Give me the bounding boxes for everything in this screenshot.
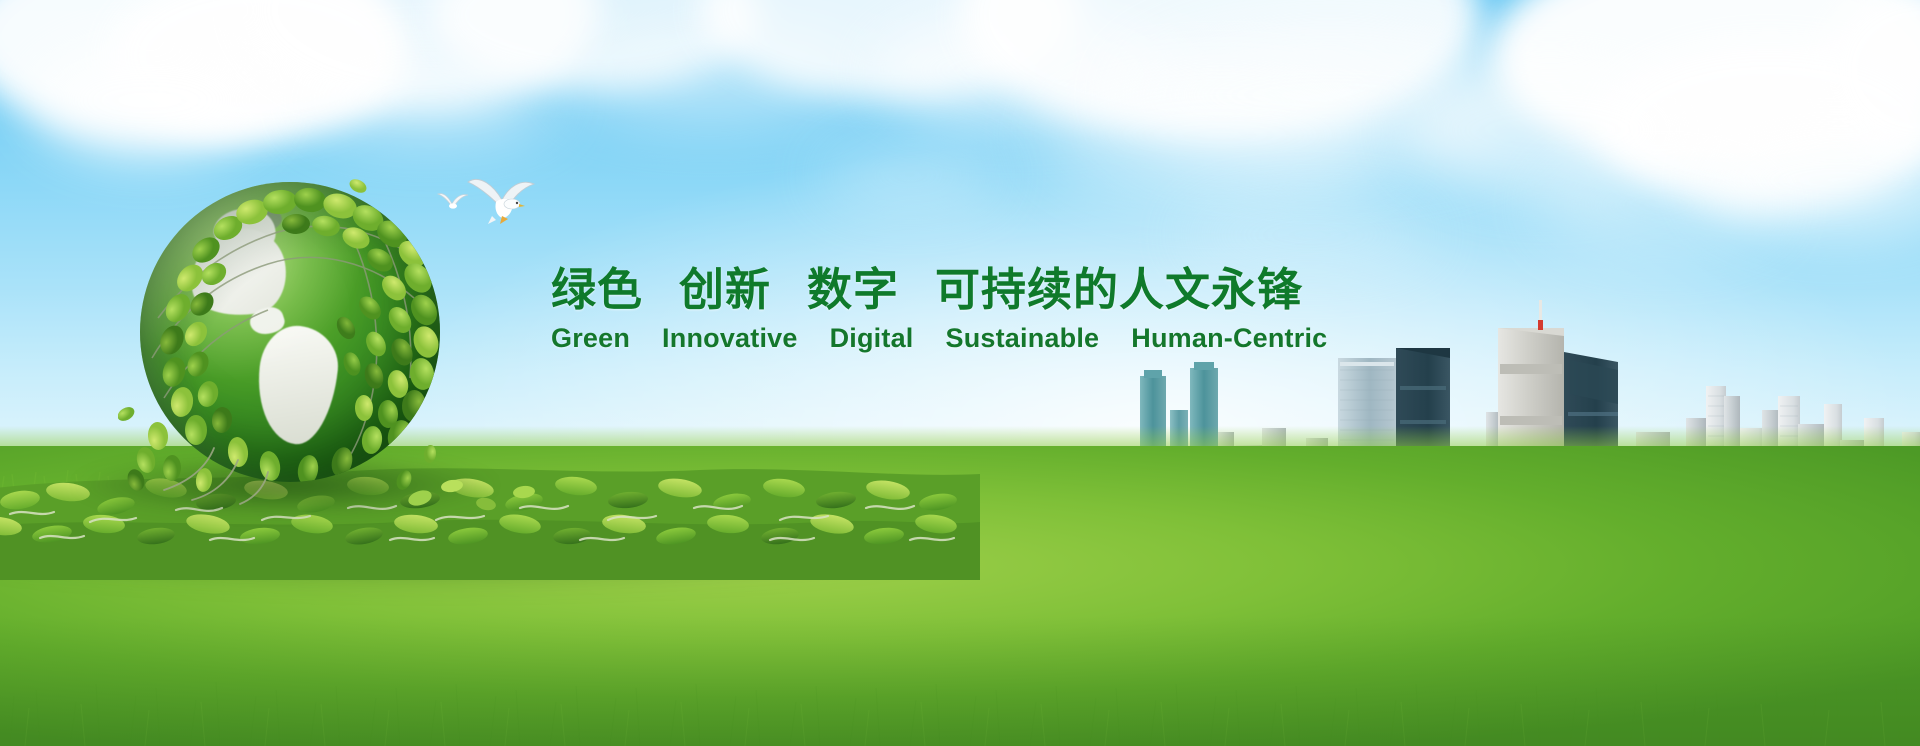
headline-word-2: 创新 <box>679 264 771 315</box>
subtitle-word-4: Sustainable <box>946 323 1100 353</box>
eco-banner: 绿色创新数字可持续的人文永锋 GreenInnovativeDigitalSus… <box>0 0 1920 746</box>
subtitle-english: GreenInnovativeDigitalSustainableHuman-C… <box>551 322 1291 354</box>
subtitle-word-2: Innovative <box>662 323 798 353</box>
grass-foreground-shade <box>0 616 1920 746</box>
headline-chinese: 绿色创新数字可持续的人文永锋 <box>551 264 1291 316</box>
eco-globe <box>118 168 458 508</box>
subtitle-word-1: Green <box>551 323 630 353</box>
subtitle-word-3: Digital <box>830 323 914 353</box>
drifting-leaves <box>400 470 680 560</box>
banner-text-block: 绿色创新数字可持续的人文永锋 GreenInnovativeDigitalSus… <box>551 264 1291 354</box>
headline-word-4: 可持续的人文永锋 <box>935 264 1303 315</box>
headline-word-1: 绿色 <box>551 264 643 315</box>
headline-word-3: 数字 <box>807 264 899 315</box>
subtitle-word-5: Human-Centric <box>1131 323 1327 353</box>
